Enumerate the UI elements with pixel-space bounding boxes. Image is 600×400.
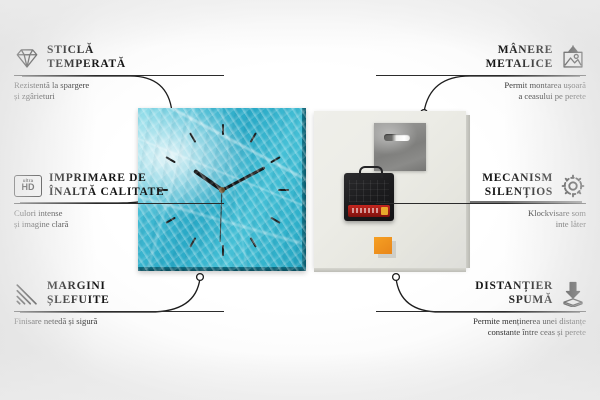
callout-header: MECANISM SILENȚIOS bbox=[376, 172, 586, 199]
callout-polished-edges: MARGINI ȘLEFUITE Finisare netedă și sigu… bbox=[14, 280, 224, 327]
polished-edge-lines-icon bbox=[14, 281, 40, 307]
ultra-hd-icon: ultra HD bbox=[14, 175, 42, 197]
callout-subtitle-line2: constante între ceas și perete bbox=[376, 327, 586, 338]
foam-spacer-pad bbox=[374, 237, 392, 254]
callout-subtitle-line2: a ceasului pe perete bbox=[376, 91, 586, 102]
feather-streak bbox=[138, 108, 306, 181]
callout-header: MÂNERE METALICE bbox=[376, 44, 586, 71]
callout-divider bbox=[14, 311, 224, 312]
hour-tick bbox=[165, 156, 176, 163]
hour-tick bbox=[222, 245, 224, 256]
callout-title: IMPRIMARE DE ÎNALTĂ CALITATE bbox=[49, 172, 164, 199]
hanger-keyhole-slot bbox=[384, 134, 410, 141]
callout-header: DISTANȚIER SPUMĂ bbox=[376, 280, 586, 307]
callout-subtitle-line2: și imagine clară bbox=[14, 219, 224, 230]
callout-metal-handles: MÂNERE METALICE Permit montarea ușoară a… bbox=[376, 44, 586, 101]
callout-tempered-glass: STICLĂ TEMPERATĂ Rezistentă la spargere … bbox=[14, 44, 224, 101]
callout-title: STICLĂ TEMPERATĂ bbox=[47, 44, 126, 71]
hour-tick bbox=[270, 156, 281, 163]
glass-right-edge bbox=[302, 108, 306, 271]
callout-high-quality-print: ultra HD IMPRIMARE DE ÎNALTĂ CALITATE Cu… bbox=[14, 172, 224, 229]
callout-subtitle-line2: inte låter bbox=[376, 219, 586, 230]
callout-divider bbox=[376, 203, 586, 204]
hour-tick bbox=[278, 189, 289, 191]
callout-title: MÂNERE METALICE bbox=[486, 44, 553, 71]
back-panel-bottom-edge bbox=[314, 268, 466, 272]
metal-hanger-bracket bbox=[374, 123, 426, 171]
hour-tick bbox=[250, 237, 257, 248]
hour-tick bbox=[189, 237, 196, 248]
callout-silent-mechanism: MECANISM SILENȚIOS Klockvisare som inte … bbox=[376, 172, 586, 229]
callout-subtitle-line2: și zgârieturi bbox=[14, 91, 224, 102]
callout-title: MARGINI ȘLEFUITE bbox=[47, 280, 109, 307]
callout-title: MECANISM SILENȚIOS bbox=[482, 172, 553, 199]
callout-subtitle-line1: Culori intense bbox=[14, 208, 224, 219]
hour-tick bbox=[222, 124, 224, 135]
callout-header: STICLĂ TEMPERATĂ bbox=[14, 44, 224, 71]
callout-foam-spacer: DISTANȚIER SPUMĂ Permite menținerea unei… bbox=[376, 280, 586, 337]
callout-subtitle-line1: Rezistentă la spargere bbox=[14, 80, 224, 91]
hour-tick bbox=[189, 132, 196, 143]
diamond-icon bbox=[14, 45, 40, 71]
callout-divider bbox=[376, 75, 586, 76]
gear-icon bbox=[560, 173, 586, 199]
callout-title: DISTANȚIER SPUMĂ bbox=[475, 280, 553, 307]
callout-subtitle-line1: Klockvisare som bbox=[376, 208, 586, 219]
callout-header: MARGINI ȘLEFUITE bbox=[14, 280, 224, 307]
callout-divider bbox=[14, 203, 224, 204]
callout-divider bbox=[376, 311, 586, 312]
callout-subtitle-line1: Permit montarea ușoară bbox=[376, 80, 586, 91]
callout-header: ultra HD IMPRIMARE DE ÎNALTĂ CALITATE bbox=[14, 172, 224, 199]
ultra-hd-main-label: HD bbox=[22, 183, 35, 192]
hanging-picture-frame-icon bbox=[560, 45, 586, 71]
callout-divider bbox=[14, 75, 224, 76]
hour-tick bbox=[250, 132, 257, 143]
callout-subtitle-line1: Permite menținerea unei distanțe bbox=[376, 316, 586, 327]
infographic-canvas: STICLĂ TEMPERATĂ Rezistentă la spargere … bbox=[0, 0, 600, 400]
arrow-onto-pad-icon bbox=[560, 281, 586, 307]
clock-minute-hand bbox=[221, 166, 265, 191]
glass-bottom-edge bbox=[138, 267, 306, 271]
callout-subtitle-line1: Finisare netedă și sigură bbox=[14, 316, 224, 327]
hour-tick bbox=[270, 216, 281, 223]
